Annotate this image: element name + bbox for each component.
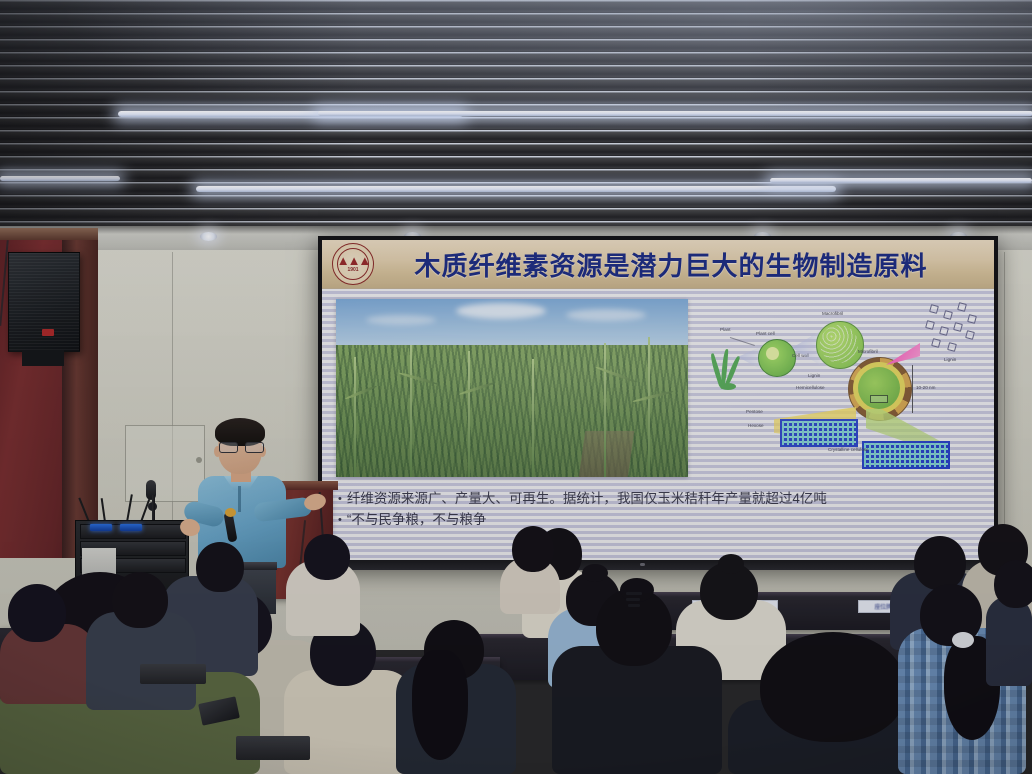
diagram-label-microfibril: Microfibril (858, 349, 878, 354)
bullet-item: • 纤维资源来源广、产量大、可再生。据统计，我国仅玉米秸秆年产量就超过4亿吨 (338, 489, 988, 510)
projection-screen[interactable]: ▲▲▲ 1901 木质纤维素资源是潜力巨大的生物制造原料 (318, 236, 998, 566)
lignin-monomer-icon (931, 338, 941, 348)
corn-field-photo (336, 299, 688, 477)
audience-head (112, 572, 168, 628)
plant-cell-wall-structure-diagram: Plant Plant cell Cell wall Macrofibril (700, 295, 988, 487)
audience-long-hair (412, 650, 468, 760)
hair-clip-icon (626, 598, 640, 601)
receiver-display-icon (90, 524, 112, 531)
shandong-university-seal-icon: ▲▲▲ 1901 (332, 243, 374, 285)
ceiling-led-strip (318, 111, 1032, 116)
ceiling-led-strip (196, 186, 836, 192)
speaker-logo-icon (42, 329, 54, 336)
audience-head (304, 534, 350, 580)
audience-torso (986, 596, 1032, 686)
bullet-marker-icon: • (338, 510, 342, 530)
bullet-text: “不与民争粮，不与粮争 (347, 510, 487, 531)
ceiling-led-strip (0, 176, 120, 181)
lecture-hall-scene: ▲▲▲ 1901 木质纤维素资源是潜力巨大的生物制造原料 (0, 0, 1032, 774)
diagram-label-plant-cell: Plant cell (756, 331, 775, 336)
diagram-label-lignin-2: Lignin (944, 357, 956, 362)
slide-surface: ▲▲▲ 1901 木质纤维素资源是潜力巨大的生物制造原料 (322, 240, 994, 562)
plant-base (720, 383, 736, 390)
mountain-icon: ▲▲▲ (337, 256, 370, 266)
screen-indicator-icon (640, 563, 645, 566)
lignin-monomer-icon (943, 310, 953, 320)
zoom-cone (738, 347, 760, 369)
lignin-monomer-icon (957, 302, 967, 312)
field-row-gap (579, 431, 635, 477)
sugar-molecule-pattern (782, 421, 856, 445)
lignin-monomer-icon (953, 322, 963, 332)
pentose-hexose-panel (780, 419, 858, 447)
diagram-label-hexose: Hexose (748, 423, 764, 428)
lignin-monomer-icon (965, 330, 975, 340)
corn-stalk (354, 357, 356, 477)
corn-stalk (410, 345, 412, 477)
lignin-monomer-icon (967, 314, 977, 324)
audience-head (994, 560, 1032, 608)
diagram-label-macrofibril: Macrofibril (822, 311, 843, 316)
slide-bullet-list: • 纤维资源来源广、产量大、可再生。据统计，我国仅玉米秸秆年产量就超过4亿吨 •… (338, 489, 988, 531)
wall-seam (172, 252, 173, 552)
glasses-lens (219, 442, 238, 453)
wall-speaker (8, 252, 80, 352)
diagram-label-lignin: Lignin (808, 373, 820, 378)
diagram-label-crystalline-cellulose: Crystalline cellulose (828, 447, 869, 452)
slide-title-banner: ▲▲▲ 1901 木质纤维素资源是潜力巨大的生物制造原料 (322, 240, 994, 289)
audience-head (914, 536, 966, 590)
seal-year: 1901 (347, 267, 358, 273)
cell-organelle (766, 347, 779, 360)
hair-clip-icon (626, 592, 642, 595)
receiver-display-icon (120, 524, 142, 531)
scale-bar (912, 365, 913, 413)
cloud (456, 303, 546, 319)
corn-stalk (604, 343, 606, 477)
lignin-monomer-icon (929, 304, 939, 314)
corn-field-region (336, 345, 688, 477)
diagram-label-plant: Plant (720, 327, 730, 332)
macrofibril-texture (820, 325, 858, 363)
crystalline-cellulose-panel (862, 441, 950, 469)
corn-stalk (648, 337, 650, 477)
cellulose-chain-pattern (864, 443, 948, 467)
slide-body: Plant Plant cell Cell wall Macrofibril (322, 289, 994, 562)
audience-head (196, 542, 244, 592)
recessed-downlight (200, 232, 217, 241)
glasses-lens (245, 442, 264, 453)
speaker-grille (9, 253, 79, 351)
cloud (366, 315, 436, 325)
leader-line (730, 337, 755, 346)
hair-clip-icon (628, 604, 640, 607)
audience-hair-bun (582, 564, 608, 582)
audience-head (8, 584, 66, 642)
audience-head (512, 526, 554, 572)
audience-hair-bun (718, 554, 744, 574)
lignin-monomer-icon (939, 326, 949, 336)
bullet-text: 纤维资源来源广、产量大、可再生。据统计，我国仅玉米秸秆年产量就超过4亿吨 (347, 489, 827, 510)
screen-bottom-bezel (318, 560, 998, 570)
corn-stalk (532, 359, 534, 477)
diagram-label-pentose: Pentose (746, 409, 763, 414)
diagram-label-hemicellulose: Hemicellulose (796, 385, 825, 390)
slide-title: 木质纤维素资源是潜力巨大的生物制造原料 (374, 246, 968, 283)
bullet-item: • “不与民争粮，不与粮争 (338, 510, 988, 531)
bullet-marker-icon: • (338, 489, 342, 509)
speaker-mount-bracket (22, 350, 64, 366)
seal-inner-ring: ▲▲▲ 1901 (337, 248, 369, 280)
eyeglasses-icon (219, 442, 262, 451)
tablet-device[interactable] (140, 664, 206, 684)
corn-stalk (468, 351, 470, 477)
lignin-monomer-icon (925, 320, 935, 330)
microphone-tip-icon (225, 508, 236, 517)
presenter-placket (238, 486, 241, 512)
placard-text: 座位牌 (874, 602, 891, 611)
hair-scrunchie (952, 632, 974, 648)
highlight-box (870, 395, 888, 403)
laptop[interactable] (236, 736, 310, 760)
ceiling-led-strip (770, 178, 1032, 183)
wood-trim (0, 228, 98, 240)
diagram-label-scale: 10-20 nm (916, 385, 935, 390)
lignin-monomer-icon (947, 342, 957, 352)
soffit-shadow (0, 226, 1032, 234)
cloud (566, 309, 646, 321)
audience-head (760, 632, 906, 742)
wall-seam (1004, 252, 1005, 552)
